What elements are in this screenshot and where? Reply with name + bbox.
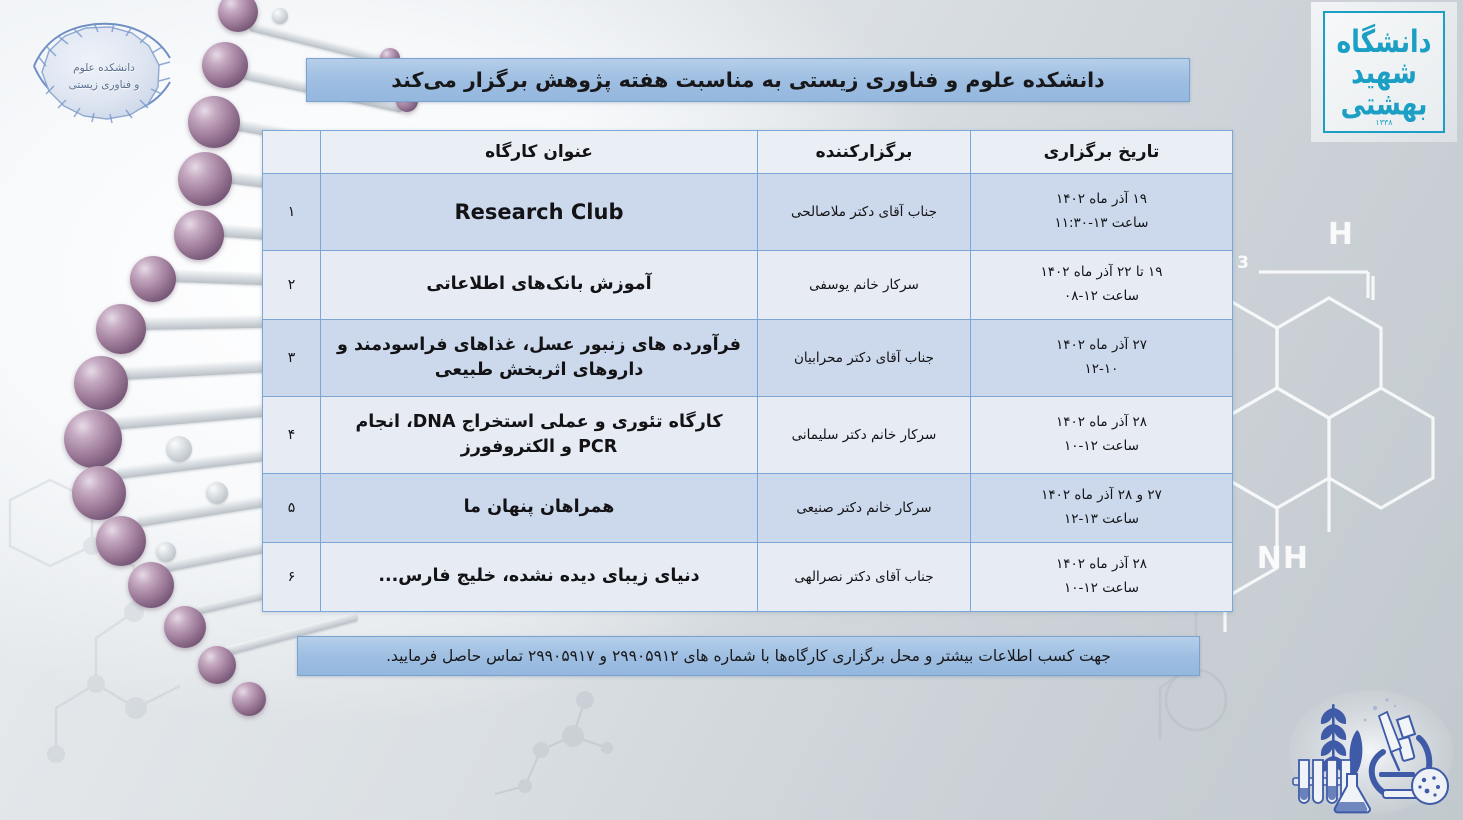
shahid-beheshti-university-logo: دانشگاه شهید بهشتی ١٣٣٨	[1311, 2, 1457, 142]
cell-date: ۱۹ تا ۲۲ آذر ماه ۱۴۰۲ ساعت ۱۲-۰۸	[971, 251, 1233, 320]
table-body: ۱۹ آذر ماه ۱۴۰۲ ساعت ۱۳-۱۱:۳۰ جناب آقای …	[263, 174, 1233, 612]
cell-organizer: جناب آقای دکتر ملاصالحی	[758, 174, 971, 251]
petri-dish-icon	[1412, 768, 1448, 804]
table-row: ۲۸ آذر ماه ۱۴۰۲ ساعت ۱۲-۱۰ سرکار خانم دک…	[263, 397, 1233, 474]
cell-workshop-title: Research Club	[321, 174, 758, 251]
cell-index: ٣	[263, 320, 321, 397]
date-line-2: ساعت ۱۲-۱۰	[977, 435, 1226, 459]
table-header: تاریخ برگزاری برگزارکننده عنوان کارگاه	[263, 131, 1233, 174]
molecule-doodle-left	[0, 470, 300, 820]
title-banner-text: دانشکده علوم و فناوری زیستی به مناسبت هف…	[391, 68, 1104, 92]
column-header-title: عنوان کارگاه	[321, 131, 758, 174]
molecule-doodle-bottom	[455, 690, 685, 820]
table-row: ۲۷ و ۲۸ آذر ماه ۱۴۰۲ ساعت ۱۳-۱۲ سرکار خا…	[263, 474, 1233, 543]
cell-organizer: سرکار خانم یوسفی	[758, 251, 971, 320]
date-line-2: ساعت ۱۳-۱۱:۳۰	[977, 212, 1226, 236]
title-banner: دانشکده علوم و فناوری زیستی به مناسبت هف…	[306, 58, 1190, 102]
svg-text:NH: NH	[1257, 541, 1309, 576]
column-header-index	[263, 131, 321, 174]
poster-canvas: CH 3 H NH	[0, 0, 1463, 820]
faculty-seal-line1: دانشکده علوم	[73, 62, 135, 74]
cell-organizer: سرکار خانم دکتر صنیعی	[758, 474, 971, 543]
cell-date: ۱۹ آذر ماه ۱۴۰۲ ساعت ۱۳-۱۱:۳۰	[971, 174, 1233, 251]
date-line-2: ۱۲-۱۰	[977, 358, 1226, 382]
cell-index: ۵	[263, 474, 321, 543]
contact-info-banner: جهت کسب اطلاعات بیشتر و محل برگزاری کارگ…	[297, 636, 1200, 676]
faculty-seal-text: دانشکده علوم و فناوری زیستی	[18, 8, 190, 140]
date-line-1: ۱۹ آذر ماه ۱۴۰۲	[977, 188, 1226, 212]
cell-date: ۲۸ آذر ماه ۱۴۰۲ ساعت ۱۲-۱۰	[971, 543, 1233, 612]
cell-date: ۲۷ و ۲۸ آذر ماه ۱۴۰۲ ساعت ۱۳-۱۲	[971, 474, 1233, 543]
date-line-2: ساعت ۱۳-۱۲	[977, 508, 1226, 532]
cell-index: ١	[263, 174, 321, 251]
molecule-doodle-right	[990, 600, 1230, 815]
cell-date: ۲۷ آذر ماه ۱۴۰۲ ۱۲-۱۰	[971, 320, 1233, 397]
table-row: ۱۹ تا ۲۲ آذر ماه ۱۴۰۲ ساعت ۱۲-۰۸ سرکار خ…	[263, 251, 1233, 320]
column-header-date: تاریخ برگزاری	[971, 131, 1233, 174]
cell-workshop-title: فرآورده های زنبور عسل، غذاهای فراسودمند …	[321, 320, 758, 397]
cell-workshop-title: کارگاه تئوری و عملی استخراج DNA، انجام P…	[321, 397, 758, 474]
cell-workshop-title: همراهان پنهان ما	[321, 474, 758, 543]
table-row: ۲۷ آذر ماه ۱۴۰۲ ۱۲-۱۰ جناب آقای دکتر محر…	[263, 320, 1233, 397]
university-logo-year: ١٣٣٨	[1325, 118, 1443, 127]
workshop-schedule-table: تاریخ برگزاری برگزارکننده عنوان کارگاه ۱…	[262, 130, 1233, 612]
date-line-1: ۲۷ آذر ماه ۱۴۰۲	[977, 334, 1226, 358]
faculty-seal: دانشکده علوم و فناوری زیستی	[18, 8, 190, 140]
column-header-organizer: برگزارکننده	[758, 131, 971, 174]
cell-organizer: سرکار خانم دکتر سلیمانی	[758, 397, 971, 474]
svg-text:H: H	[1328, 217, 1353, 252]
cell-date: ۲۸ آذر ماه ۱۴۰۲ ساعت ۱۲-۱۰	[971, 397, 1233, 474]
date-line-1: ۱۹ تا ۲۲ آذر ماه ۱۴۰۲	[977, 261, 1226, 285]
cell-workshop-title: دنیای زیبای دیده نشده، خلیج فارس...	[321, 543, 758, 612]
svg-text:3: 3	[1237, 253, 1249, 273]
university-logo-text: دانشگاه شهید بهشتی	[1325, 25, 1443, 119]
cell-organizer: جناب آقای دکتر محرابیان	[758, 320, 971, 397]
university-logo-frame: دانشگاه شهید بهشتی ١٣٣٨	[1323, 11, 1445, 133]
contact-info-text: جهت کسب اطلاعات بیشتر و محل برگزاری کارگ…	[386, 647, 1111, 665]
cell-index: ٢	[263, 251, 321, 320]
date-line-1: ۲۸ آذر ماه ۱۴۰۲	[977, 411, 1226, 435]
date-line-1: ۲۸ آذر ماه ۱۴۰۲	[977, 553, 1226, 577]
cell-organizer: جناب آقای دکتر نصرالهی	[758, 543, 971, 612]
date-line-2: ساعت ۱۲-۱۰	[977, 577, 1226, 601]
cell-index: ۴	[263, 397, 321, 474]
table-row: ۱۹ آذر ماه ۱۴۰۲ ساعت ۱۳-۱۱:۳۰ جناب آقای …	[263, 174, 1233, 251]
table-row: ۲۸ آذر ماه ۱۴۰۲ ساعت ۱۲-۱۰ جناب آقای دکت…	[263, 543, 1233, 612]
date-line-2: ساعت ۱۲-۰۸	[977, 285, 1226, 309]
cell-index: ۶	[263, 543, 321, 612]
science-illustration	[1287, 686, 1455, 816]
table-header-row: تاریخ برگزاری برگزارکننده عنوان کارگاه	[263, 131, 1233, 174]
cell-workshop-title: آموزش بانک‌های اطلاعاتی	[321, 251, 758, 320]
faculty-seal-line2: و فناوری زیستی	[69, 79, 140, 91]
date-line-1: ۲۷ و ۲۸ آذر ماه ۱۴۰۲	[977, 484, 1226, 508]
